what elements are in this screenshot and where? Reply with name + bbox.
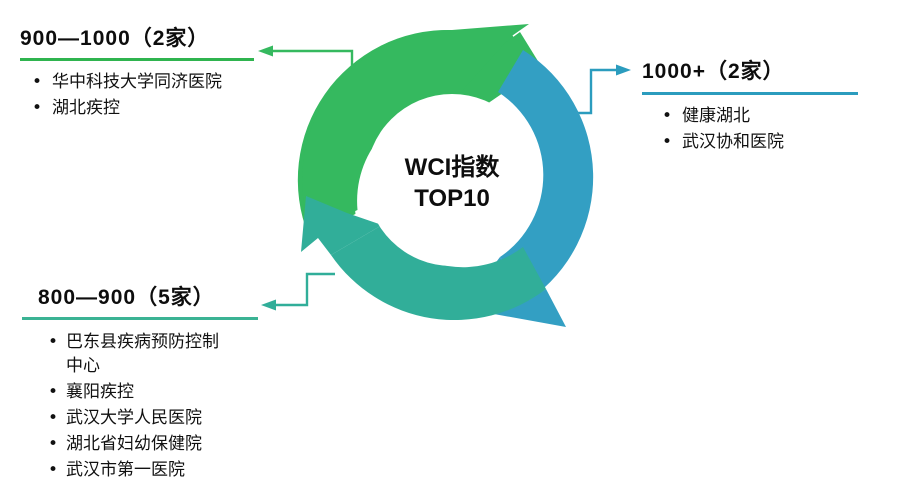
list-item-label: 襄阳疾控 (66, 382, 134, 402)
panel-800-900-rule (22, 317, 258, 320)
panel-900-1000: 900—1000（2家） • 华中科技大学同济医院 • 湖北疾控 (0, 22, 262, 122)
panel-800-900-heading: 800—900（5家） (38, 281, 272, 311)
center-label-line1: WCI指数 (373, 152, 531, 183)
list-item-label: 武汉大学人民医院 (66, 408, 202, 428)
bullet-icon: • (48, 406, 58, 430)
list-item-label: 健康湖北 (682, 106, 750, 126)
list-item-label: 巴东县疾病预防控制中心 (66, 330, 226, 378)
panel-1000-plus: 1000+（2家） • 健康湖北 • 武汉协和医院 (636, 55, 898, 156)
bullet-icon: • (662, 130, 672, 154)
list-item-label: 湖北省妇幼保健院 (66, 434, 202, 454)
panel-1000-plus-list: • 健康湖北 • 武汉协和医院 (660, 104, 898, 154)
list-item-label: 湖北疾控 (52, 98, 120, 118)
list-item-label: 武汉协和医院 (682, 132, 784, 152)
list-item: • 湖北省妇幼保健院 (46, 432, 272, 456)
panel-800-900: 800—900（5家） • 巴东县疾病预防控制中心 • 襄阳疾控 • 武汉大学人… (0, 281, 272, 484)
panel-1000-plus-heading: 1000+（2家） (642, 55, 898, 85)
list-item: • 武汉市第一医院 (46, 458, 272, 482)
list-item: • 武汉协和医院 (660, 130, 898, 154)
panel-1000-plus-rule (642, 92, 858, 95)
panel-800-900-list: • 巴东县疾病预防控制中心 • 襄阳疾控 • 武汉大学人民医院 • 湖北省妇幼保… (46, 330, 272, 482)
panel-900-1000-heading: 900—1000（2家） (20, 22, 262, 52)
panel-900-1000-rule (20, 58, 254, 61)
list-item-label: 华中科技大学同济医院 (52, 72, 222, 92)
bullet-icon: • (48, 432, 58, 456)
list-item: • 湖北疾控 (30, 96, 262, 120)
center-label-line2: TOP10 (373, 183, 531, 214)
bullet-icon: • (32, 96, 42, 120)
list-item: • 健康湖北 (660, 104, 898, 128)
list-item-label: 武汉市第一医院 (66, 460, 185, 480)
bullet-icon: • (48, 458, 58, 482)
connector-bottom-left (261, 274, 335, 311)
bullet-icon: • (32, 70, 42, 94)
bullet-icon: • (48, 380, 58, 404)
panel-900-1000-list: • 华中科技大学同济医院 • 湖北疾控 (30, 70, 262, 120)
list-item: • 华中科技大学同济医院 (30, 70, 262, 94)
list-item: • 武汉大学人民医院 (46, 406, 272, 430)
list-item: • 巴东县疾病预防控制中心 (46, 330, 272, 378)
diagram-canvas: WCI指数 TOP10 900—1000（2家） • 华中科技大学同济医院 • … (0, 0, 905, 504)
list-item: • 襄阳疾控 (46, 380, 272, 404)
bullet-icon: • (662, 104, 672, 128)
center-label: WCI指数 TOP10 (373, 152, 531, 214)
bullet-icon: • (48, 330, 58, 354)
